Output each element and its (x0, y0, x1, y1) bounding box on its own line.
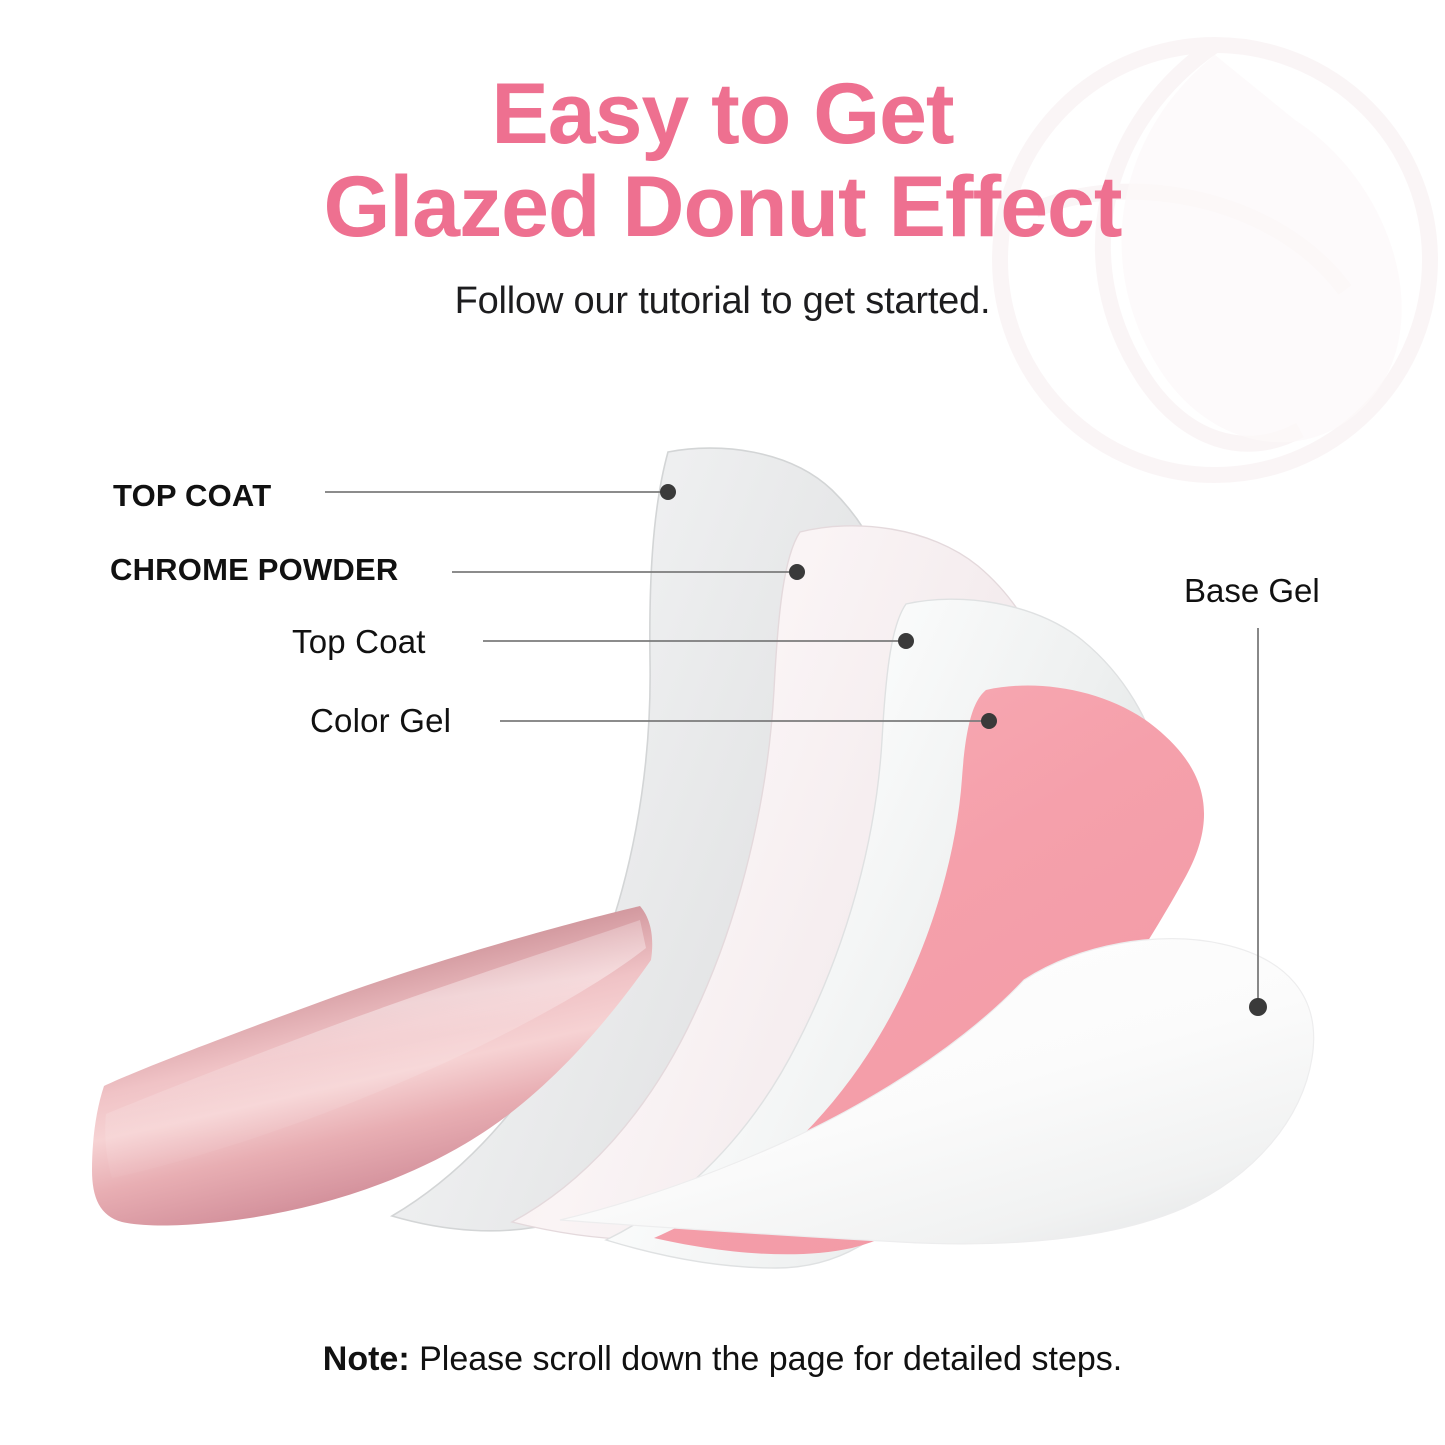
leader-dot-top-coat (898, 633, 914, 649)
callout-label-color-gel: Color Gel (310, 702, 451, 740)
callout-label-top-coat-bold: TOP COAT (113, 478, 271, 514)
footer-note-text: Please scroll down the page for detailed… (410, 1340, 1123, 1378)
callout-label-base-gel: Base Gel (1184, 572, 1320, 610)
diagram-canvas (0, 0, 1445, 1445)
promo-infographic: Easy to Get Glazed Donut Effect Follow o… (0, 0, 1445, 1445)
leader-dot-color-gel (981, 713, 997, 729)
footer-note-label: Note: (323, 1340, 410, 1378)
callout-label-top-coat: Top Coat (292, 623, 426, 661)
leader-dot-base-gel (1249, 998, 1267, 1016)
nail-layer-diagram: TOP COAT CHROME POWDER Top Coat Color Ge… (0, 0, 1445, 1445)
callout-label-chrome-powder: CHROME POWDER (110, 552, 399, 588)
leader-dot-top-coat-bold (660, 484, 676, 500)
footer-note: Note: Please scroll down the page for de… (0, 1340, 1445, 1379)
leader-dot-chrome-powder (789, 564, 805, 580)
